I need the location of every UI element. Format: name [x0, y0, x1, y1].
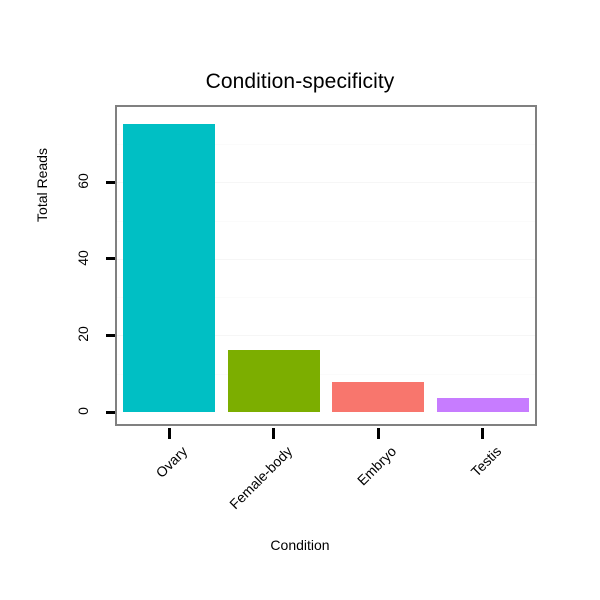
x-tick-mark — [272, 428, 275, 439]
bar-ovary[interactable] — [123, 124, 215, 412]
bar-female-body[interactable] — [228, 350, 320, 412]
bar-embryo[interactable] — [332, 382, 424, 412]
plot-area — [117, 107, 535, 424]
y-tick-mark — [106, 257, 115, 260]
y-tick-label: 0 — [75, 391, 91, 431]
bar-testis[interactable] — [437, 398, 529, 412]
y-axis-title: Total Reads — [34, 115, 50, 255]
chart-title: Condition-specificity — [0, 70, 600, 94]
y-tick-mark — [106, 181, 115, 184]
x-tick-mark — [168, 428, 171, 439]
y-tick-label: 20 — [75, 314, 91, 354]
y-tick-label: 60 — [75, 161, 91, 201]
chart-page: Condition-specificity Total Reads Condit… — [0, 0, 600, 600]
y-tick-mark — [106, 334, 115, 337]
x-tick-mark — [377, 428, 380, 439]
y-tick-label: 40 — [75, 238, 91, 278]
plot-panel — [115, 105, 537, 426]
x-tick-mark — [481, 428, 484, 439]
y-tick-mark — [106, 411, 115, 414]
